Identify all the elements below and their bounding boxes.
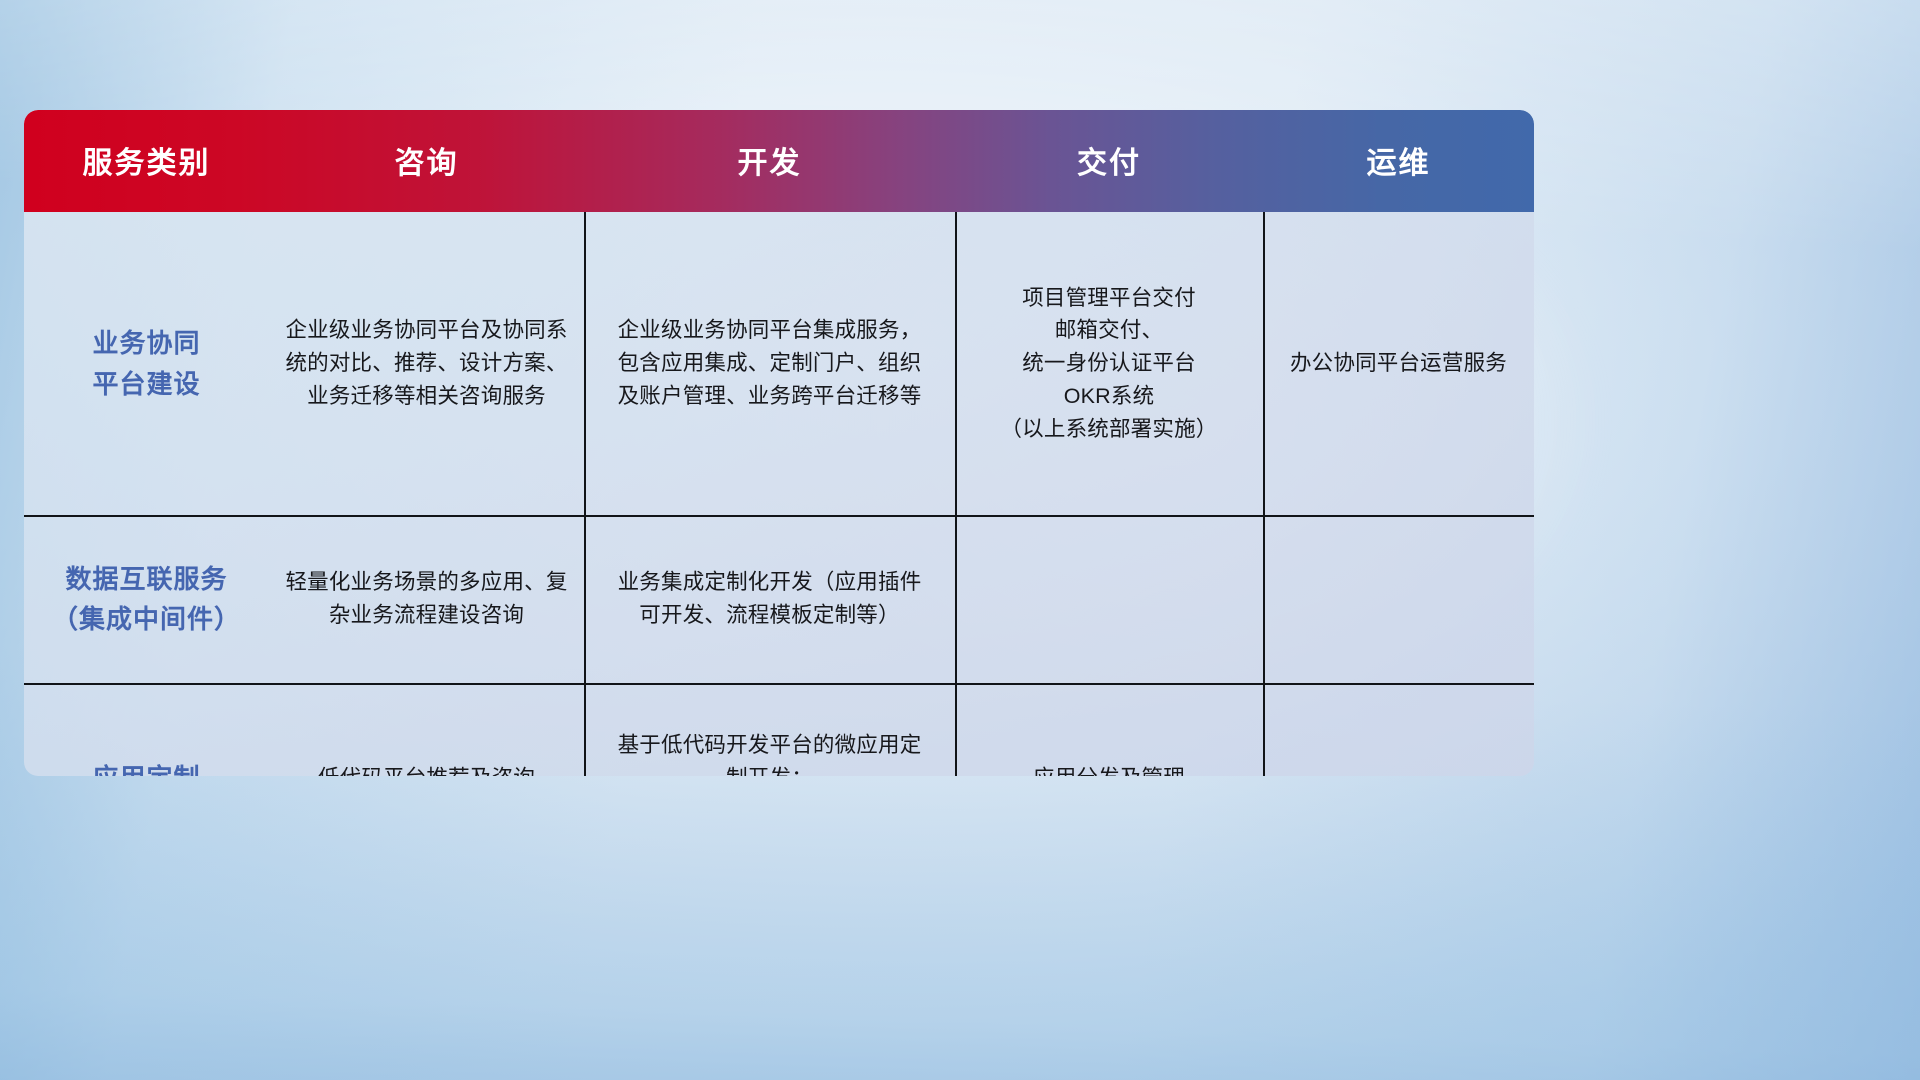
cell-delivery: 应用分发及管理 (955, 683, 1263, 776)
cell-text: 基于低代码开发平台的微应用定 制开发； 基于通过语言的微应用定制开发 (618, 729, 922, 776)
column-header-category: 服务类别 (24, 110, 269, 212)
cell-text: 业务集成定制化开发（应用插件 可开发、流程模板定制等） (618, 566, 922, 631)
cell-text: 数据互联服务 （集成中间件） (52, 559, 241, 640)
table-header-row: 服务类别 咨询 开发 交付 运维 (24, 110, 1534, 212)
column-header-consulting: 咨询 (269, 110, 584, 212)
cell-text: 轻量化业务场景的多应用、复 杂业务流程建设咨询 (285, 566, 567, 631)
row-label-data-interconnect: 数据互联服务 （集成中间件） (24, 515, 269, 683)
cell-text: 企业级业务协同平台集成服务， 包含应用集成、定制门户、组织 及账户管理、业务跨平… (618, 314, 922, 412)
cell-text: 办公协同平台运营服务 (1290, 347, 1507, 380)
column-header-label: 服务类别 (83, 149, 211, 179)
cell-operations (1263, 683, 1534, 776)
column-header-delivery: 交付 (955, 110, 1263, 212)
cell-consulting: 低代码平台推荐及咨询 (269, 683, 584, 776)
cell-text: 业务协同 平台建设 (92, 323, 200, 404)
column-header-operations: 运维 (1263, 110, 1534, 212)
column-header-label: 运维 (1367, 149, 1431, 179)
cell-consulting: 企业级业务协同平台及协同系 统的对比、推荐、设计方案、 业务迁移等相关咨询服务 (269, 212, 584, 515)
table-row: 应用定制 低代码平台推荐及咨询 基于低代码开发平台的微应用定 制开发； 基于通过… (24, 683, 1534, 776)
cell-text: 企业级业务协同平台及协同系 统的对比、推荐、设计方案、 业务迁移等相关咨询服务 (285, 314, 567, 412)
column-header-development: 开发 (584, 110, 955, 212)
cell-development: 业务集成定制化开发（应用插件 可开发、流程模板定制等） (584, 515, 955, 683)
column-header-label: 开发 (738, 149, 802, 179)
cell-operations: 办公协同平台运营服务 (1263, 212, 1534, 515)
column-header-label: 咨询 (395, 149, 459, 179)
cell-text: 应用定制 (92, 758, 200, 776)
cell-development: 企业级业务协同平台集成服务， 包含应用集成、定制门户、组织 及账户管理、业务跨平… (584, 212, 955, 515)
cell-consulting: 轻量化业务场景的多应用、复 杂业务流程建设咨询 (269, 515, 584, 683)
service-matrix-table: 服务类别 咨询 开发 交付 运维 业务协同 平台建设 企业级业务协同平台及协同系… (24, 110, 1534, 776)
cell-text: 项目管理平台交付 邮箱交付、 统一身份认证平台 OKR系统 （以上系统部署实施） (1000, 282, 1217, 445)
cell-text: 应用分发及管理 (1033, 762, 1185, 776)
table-row: 数据互联服务 （集成中间件） 轻量化业务场景的多应用、复 杂业务流程建设咨询 业… (24, 515, 1534, 683)
cell-delivery: 项目管理平台交付 邮箱交付、 统一身份认证平台 OKR系统 （以上系统部署实施） (955, 212, 1263, 515)
column-header-label: 交付 (1077, 149, 1141, 179)
cell-development: 基于低代码开发平台的微应用定 制开发； 基于通过语言的微应用定制开发 (584, 683, 955, 776)
cell-operations (1263, 515, 1534, 683)
cell-text: 低代码平台推荐及咨询 (318, 762, 535, 776)
cell-delivery (955, 515, 1263, 683)
table-body: 业务协同 平台建设 企业级业务协同平台及协同系 统的对比、推荐、设计方案、 业务… (24, 212, 1534, 776)
row-label-business-collaboration: 业务协同 平台建设 (24, 212, 269, 515)
row-label-application-customization: 应用定制 (24, 683, 269, 776)
table-row: 业务协同 平台建设 企业级业务协同平台及协同系 统的对比、推荐、设计方案、 业务… (24, 212, 1534, 515)
